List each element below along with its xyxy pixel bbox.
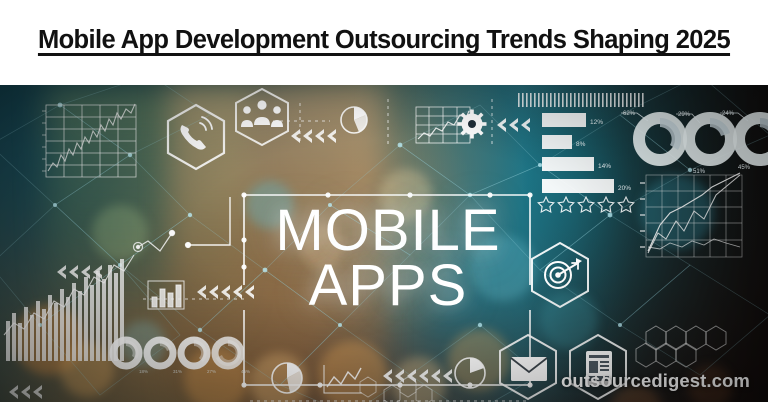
page-root: Mobile App Development Outsourcing Trend…: [0, 0, 768, 402]
page-title: Mobile App Development Outsourcing Trend…: [0, 26, 768, 55]
hero-image: 18% 31% 27% 45%: [0, 85, 768, 402]
hero-vignette: [0, 85, 768, 402]
